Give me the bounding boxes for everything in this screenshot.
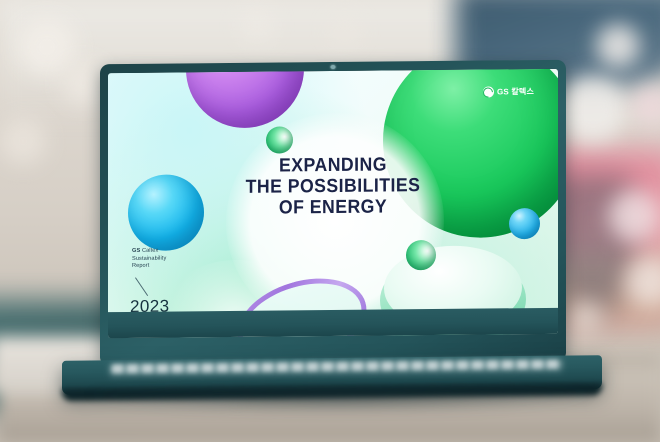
caption-line-3: Report (132, 263, 166, 271)
gs-caltex-logo: GS 칼텍스 (483, 86, 534, 97)
caption-brand-rest: Caltex (140, 248, 158, 254)
slide-caption: GS Caltex Sustainability Report (132, 248, 166, 271)
webcam-icon (331, 64, 336, 68)
green-marble-decoration (266, 126, 293, 153)
presentation-slide[interactable]: GS 칼텍스 EXPANDING THE POSSIBILITIES OF EN… (108, 69, 558, 338)
laptop-screen: GS 칼텍스 EXPANDING THE POSSIBILITIES OF EN… (108, 69, 558, 338)
purple-sphere-decoration (186, 69, 304, 129)
logo-text: GS 칼텍스 (497, 86, 534, 97)
photo-scene: GS 칼텍스 EXPANDING THE POSSIBILITIES OF EN… (0, 0, 660, 442)
laptop: GS 칼텍스 EXPANDING THE POSSIBILITIES OF EN… (0, 0, 660, 442)
diagonal-rule (135, 278, 161, 296)
slide-title: EXPANDING THE POSSIBILITIES OF ENERGY (124, 153, 543, 220)
green-marble-decoration-2 (406, 240, 436, 270)
screen-bezel-chin (108, 308, 558, 338)
laptop-lid: GS 칼텍스 EXPANDING THE POSSIBILITIES OF EN… (100, 60, 566, 364)
slide-title-line-3: OF ENERGY (124, 195, 543, 220)
caption-line-2: Sustainability (132, 255, 166, 263)
gs-circle-swirl-icon (483, 86, 494, 97)
laptop-shadow (90, 392, 590, 412)
